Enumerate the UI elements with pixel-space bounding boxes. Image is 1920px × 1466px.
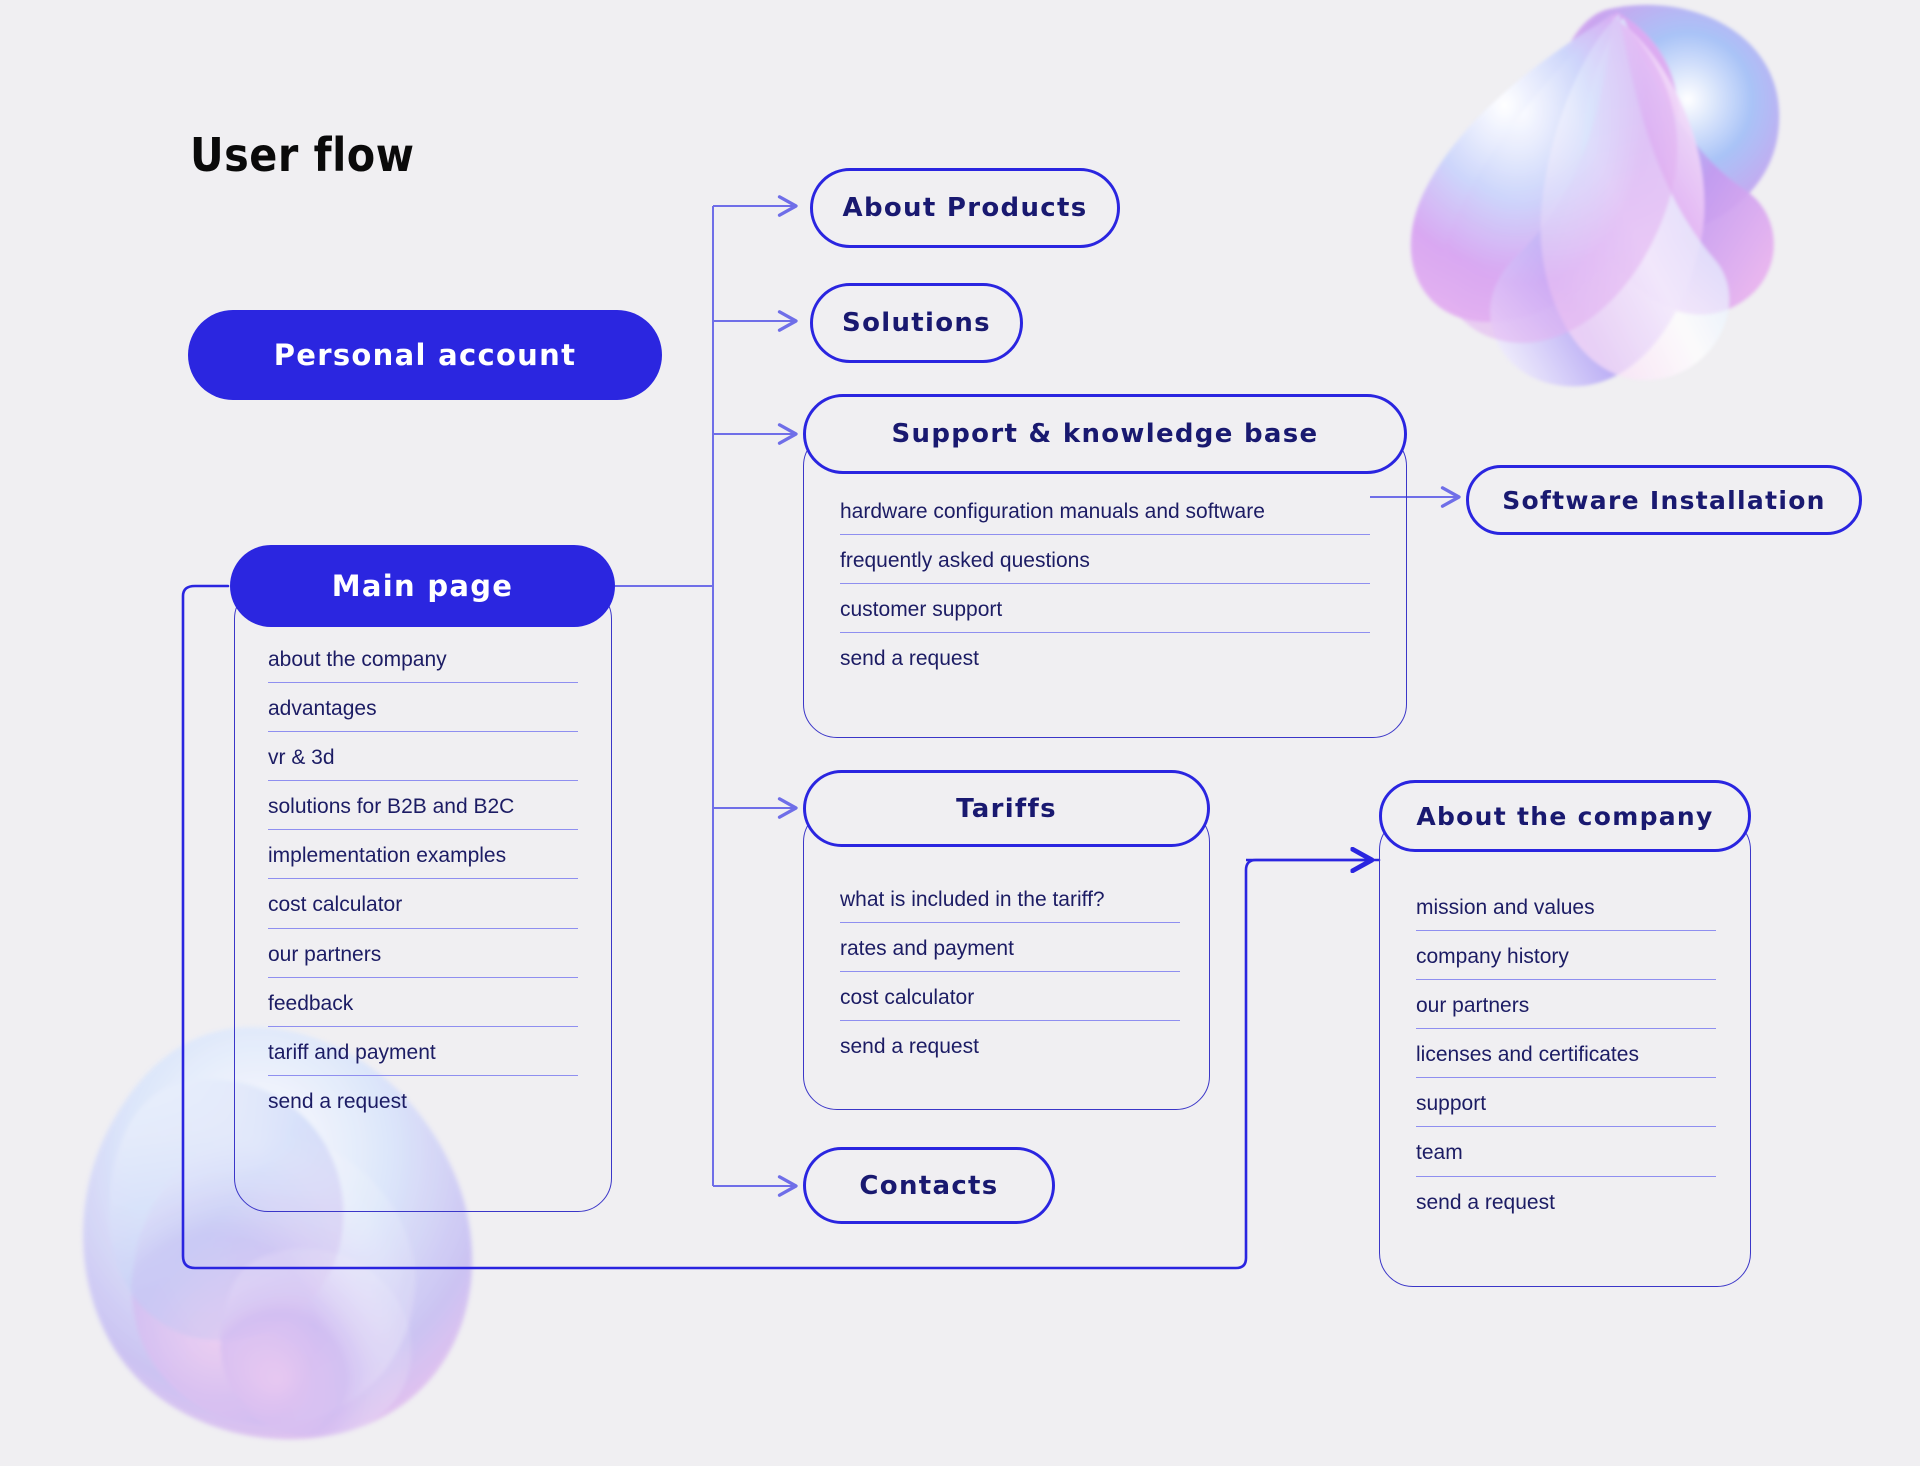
list-item[interactable]: rates and payment bbox=[840, 923, 1180, 972]
node-tariffs-label[interactable]: Tariffs bbox=[803, 770, 1210, 847]
list-item[interactable]: our partners bbox=[1416, 980, 1716, 1029]
list-item[interactable]: company history bbox=[1416, 931, 1716, 980]
list-item[interactable]: send a request bbox=[840, 633, 1370, 681]
node-software-installation[interactable]: Software Installation bbox=[1466, 465, 1862, 535]
node-software-installation-label[interactable]: Software Installation bbox=[1466, 465, 1862, 535]
list-item[interactable]: cost calculator bbox=[840, 972, 1180, 1021]
list-about-company: mission and values company history our p… bbox=[1416, 896, 1716, 1225]
node-about-products-label[interactable]: About Products bbox=[810, 168, 1120, 248]
list-item[interactable]: our partners bbox=[268, 929, 578, 978]
list-item[interactable]: tariff and payment bbox=[268, 1027, 578, 1076]
list-item[interactable]: hardware configuration manuals and softw… bbox=[840, 500, 1370, 535]
list-item[interactable]: about the company bbox=[268, 648, 578, 683]
list-main-page: about the company advantages vr & 3d sol… bbox=[268, 648, 578, 1124]
node-contacts[interactable]: Contacts bbox=[803, 1147, 1055, 1224]
node-support-label[interactable]: Support & knowledge base bbox=[803, 394, 1407, 474]
list-item[interactable]: licenses and certificates bbox=[1416, 1029, 1716, 1078]
node-contacts-label[interactable]: Contacts bbox=[803, 1147, 1055, 1224]
list-item[interactable]: mission and values bbox=[1416, 896, 1716, 931]
list-item[interactable]: implementation examples bbox=[268, 830, 578, 879]
list-item[interactable]: feedback bbox=[268, 978, 578, 1027]
list-item[interactable]: frequently asked questions bbox=[840, 535, 1370, 584]
list-support: hardware configuration manuals and softw… bbox=[840, 500, 1370, 681]
list-item[interactable]: customer support bbox=[840, 584, 1370, 633]
node-personal-account-label[interactable]: Personal account bbox=[188, 310, 662, 400]
list-item[interactable]: support bbox=[1416, 1078, 1716, 1127]
list-item[interactable]: send a request bbox=[268, 1076, 578, 1124]
node-about-products[interactable]: About Products bbox=[810, 168, 1120, 248]
list-item[interactable]: what is included in the tariff? bbox=[840, 888, 1180, 923]
list-item[interactable]: solutions for B2B and B2C bbox=[268, 781, 578, 830]
list-item[interactable]: send a request bbox=[840, 1021, 1180, 1069]
list-item[interactable]: send a request bbox=[1416, 1177, 1716, 1225]
node-personal-account[interactable]: Personal account bbox=[188, 310, 662, 400]
node-about-company-label[interactable]: About the company bbox=[1379, 780, 1751, 852]
node-main-page[interactable]: Main page bbox=[230, 545, 615, 627]
node-solutions[interactable]: Solutions bbox=[810, 283, 1023, 363]
node-about-company[interactable]: About the company bbox=[1379, 780, 1751, 852]
list-item[interactable]: cost calculator bbox=[268, 879, 578, 928]
user-flow-diagram: User flow bbox=[0, 0, 1920, 1466]
node-support[interactable]: Support & knowledge base bbox=[803, 394, 1407, 474]
list-item[interactable]: vr & 3d bbox=[268, 732, 578, 781]
node-main-page-label[interactable]: Main page bbox=[230, 545, 615, 627]
list-tariffs: what is included in the tariff? rates an… bbox=[840, 888, 1180, 1069]
node-tariffs[interactable]: Tariffs bbox=[803, 770, 1210, 847]
list-item[interactable]: team bbox=[1416, 1127, 1716, 1176]
node-solutions-label[interactable]: Solutions bbox=[810, 283, 1023, 363]
list-item[interactable]: advantages bbox=[268, 683, 578, 732]
